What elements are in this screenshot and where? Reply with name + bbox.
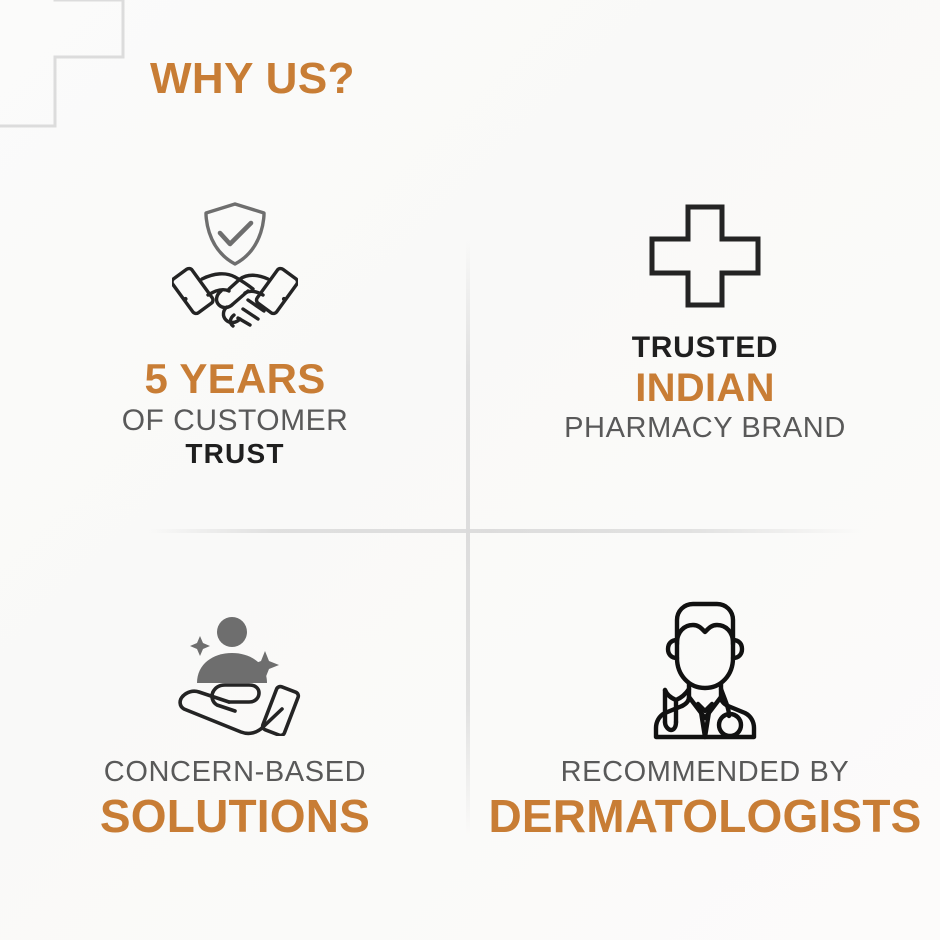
medical-plus-icon — [649, 204, 761, 308]
promo-card: WHY US? — [0, 0, 940, 940]
page-title: WHY US? — [150, 57, 355, 101]
handshake-shield-check-icon — [172, 192, 298, 328]
feature-labels: 5 YEARS OF CUSTOMER TRUST — [0, 354, 470, 471]
doctor-stethoscope-icon — [643, 596, 767, 742]
feature-labels: CONCERN-BASED SOLUTIONS — [0, 756, 470, 844]
feature-item-recommended-by-dermatologists: RECOMMENDED BY DERMATOLOGISTS — [470, 530, 940, 890]
feature-grid: 5 YEARS OF CUSTOMER TRUST TRUSTED INDIAN… — [0, 170, 940, 890]
feature-line-2: INDIAN — [470, 365, 940, 412]
feature-line-1: RECOMMENDED BY — [470, 756, 940, 790]
feature-line-1: CONCERN-BASED — [0, 756, 470, 790]
feature-line-1: TRUSTED — [470, 330, 940, 365]
feature-line-2: OF CUSTOMER — [0, 403, 470, 438]
feature-line-3: TRUST — [0, 438, 470, 471]
feature-line-2: SOLUTIONS — [0, 790, 470, 844]
feature-line-3: PHARMACY BRAND — [470, 412, 940, 446]
feature-item-trusted-indian-pharmacy: TRUSTED INDIAN PHARMACY BRAND — [470, 170, 940, 530]
hand-person-sparkle-icon — [169, 610, 301, 736]
feature-labels: RECOMMENDED BY DERMATOLOGISTS — [470, 756, 940, 844]
feature-line-2: DERMATOLOGISTS — [470, 790, 940, 844]
plus-outline-icon — [0, 0, 168, 166]
feature-labels: TRUSTED INDIAN PHARMACY BRAND — [470, 330, 940, 446]
feature-line-1: 5 YEARS — [0, 354, 470, 403]
feature-item-concern-based-solutions: CONCERN-BASED SOLUTIONS — [0, 530, 470, 890]
feature-item-years-of-trust: 5 YEARS OF CUSTOMER TRUST — [0, 170, 470, 530]
